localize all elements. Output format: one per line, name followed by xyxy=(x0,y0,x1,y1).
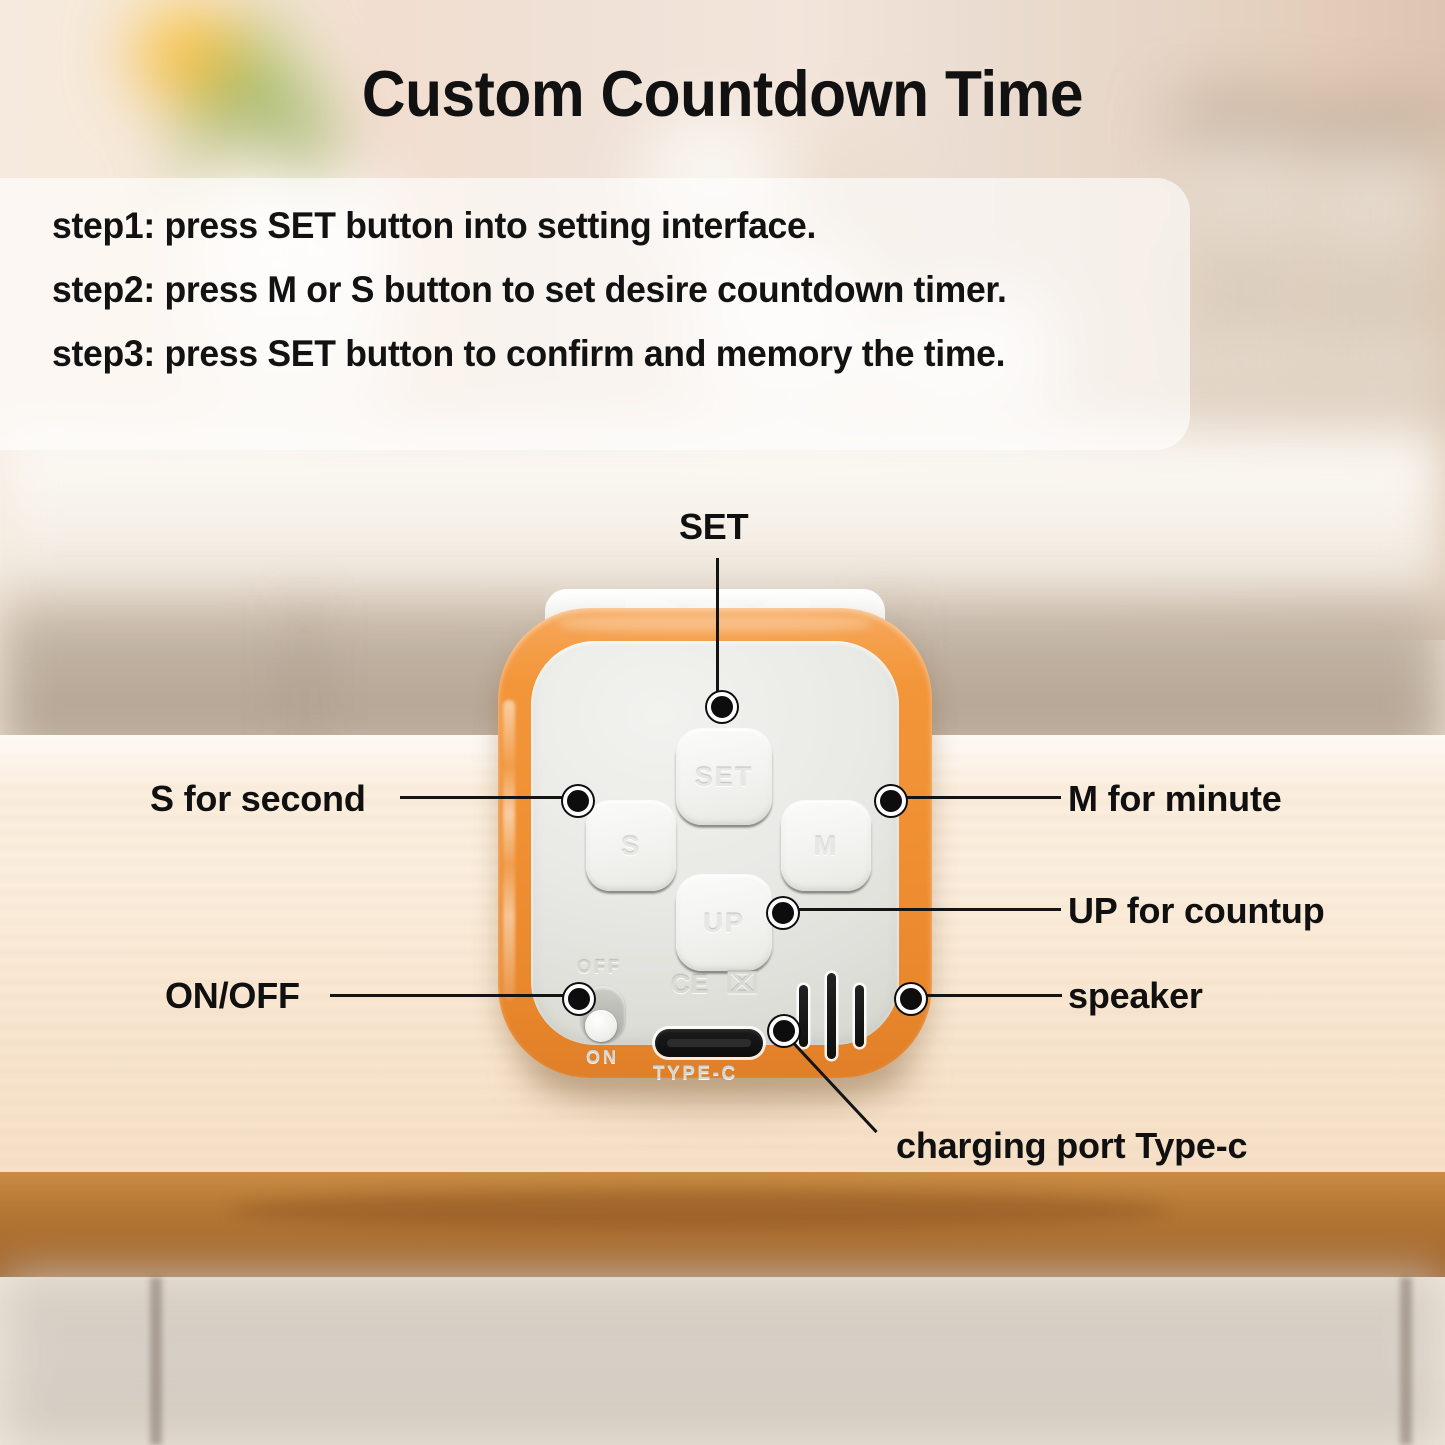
timer-device-back: SET S M UP OFF ON CE ⌧ TYPE-C xyxy=(498,608,932,1078)
countup-button-label: UP xyxy=(703,908,745,939)
callout-dot-set xyxy=(707,692,737,722)
callout-dot-up xyxy=(768,898,798,928)
instructions-list: step1: press SET button into setting int… xyxy=(52,205,1202,397)
callout-dot-s xyxy=(563,786,593,816)
power-switch-knob[interactable] xyxy=(585,1010,617,1042)
speaker-slot xyxy=(855,985,864,1047)
set-button-label: SET xyxy=(695,762,754,793)
callout-leader-speaker xyxy=(906,994,1062,997)
callout-dot-charging xyxy=(769,1016,799,1046)
table-leg xyxy=(1400,1277,1412,1445)
bumper-top-highlight xyxy=(558,614,872,632)
callout-label-up: UP for countup xyxy=(1068,890,1325,932)
callout-label-onoff: ON/OFF xyxy=(165,975,300,1017)
background-jar xyxy=(1188,126,1296,331)
product-infographic: Custom Countdown Time step1: press SET b… xyxy=(0,0,1445,1445)
background-jar xyxy=(1320,336,1445,441)
minutes-button-label: M xyxy=(814,831,839,862)
callout-label-speaker: speaker xyxy=(1068,975,1203,1017)
speaker-grille xyxy=(793,969,883,1061)
callout-leader-m xyxy=(886,796,1061,799)
background-jar xyxy=(1315,136,1433,336)
switch-on-label: ON xyxy=(586,1047,619,1068)
speaker-slot xyxy=(799,985,808,1047)
callout-leader-onoff xyxy=(330,994,574,997)
ce-mark-icon: CE xyxy=(671,969,709,1000)
speaker-slot xyxy=(827,973,836,1059)
callout-leader-up xyxy=(778,908,1061,911)
instruction-step-2: step2: press M or S button to set desire… xyxy=(52,269,1156,311)
seconds-button[interactable]: S xyxy=(586,801,676,891)
callout-dot-m xyxy=(876,786,906,816)
table-leg xyxy=(150,1277,162,1445)
callout-dot-speaker xyxy=(896,984,926,1014)
under-table-background xyxy=(0,1277,1445,1445)
callout-leader-s xyxy=(400,796,573,799)
callout-label-set: SET xyxy=(679,506,748,548)
seconds-button-label: S xyxy=(621,831,641,862)
set-button[interactable]: SET xyxy=(676,729,772,825)
callout-label-charging: charging port Type-c xyxy=(896,1125,1247,1167)
type-c-charging-port[interactable] xyxy=(655,1029,763,1057)
table-wood-grain xyxy=(230,1190,1170,1230)
type-c-port-label: TYPE-C xyxy=(653,1063,738,1085)
instruction-step-3: step3: press SET button to confirm and m… xyxy=(52,333,1156,375)
callout-label-s: S for second xyxy=(150,778,366,820)
page-title: Custom Countdown Time xyxy=(51,56,1395,131)
callout-leader-set xyxy=(716,558,719,700)
callout-label-m: M for minute xyxy=(1068,778,1282,820)
callout-dot-onoff xyxy=(564,984,594,1014)
countup-button[interactable]: UP xyxy=(676,875,772,971)
minutes-button[interactable]: M xyxy=(781,801,871,891)
instruction-step-1: step1: press SET button into setting int… xyxy=(52,205,1156,247)
switch-off-label: OFF xyxy=(577,957,622,978)
weee-bin-icon: ⌧ xyxy=(726,967,758,1000)
bumper-side-button-highlight xyxy=(503,700,515,1000)
